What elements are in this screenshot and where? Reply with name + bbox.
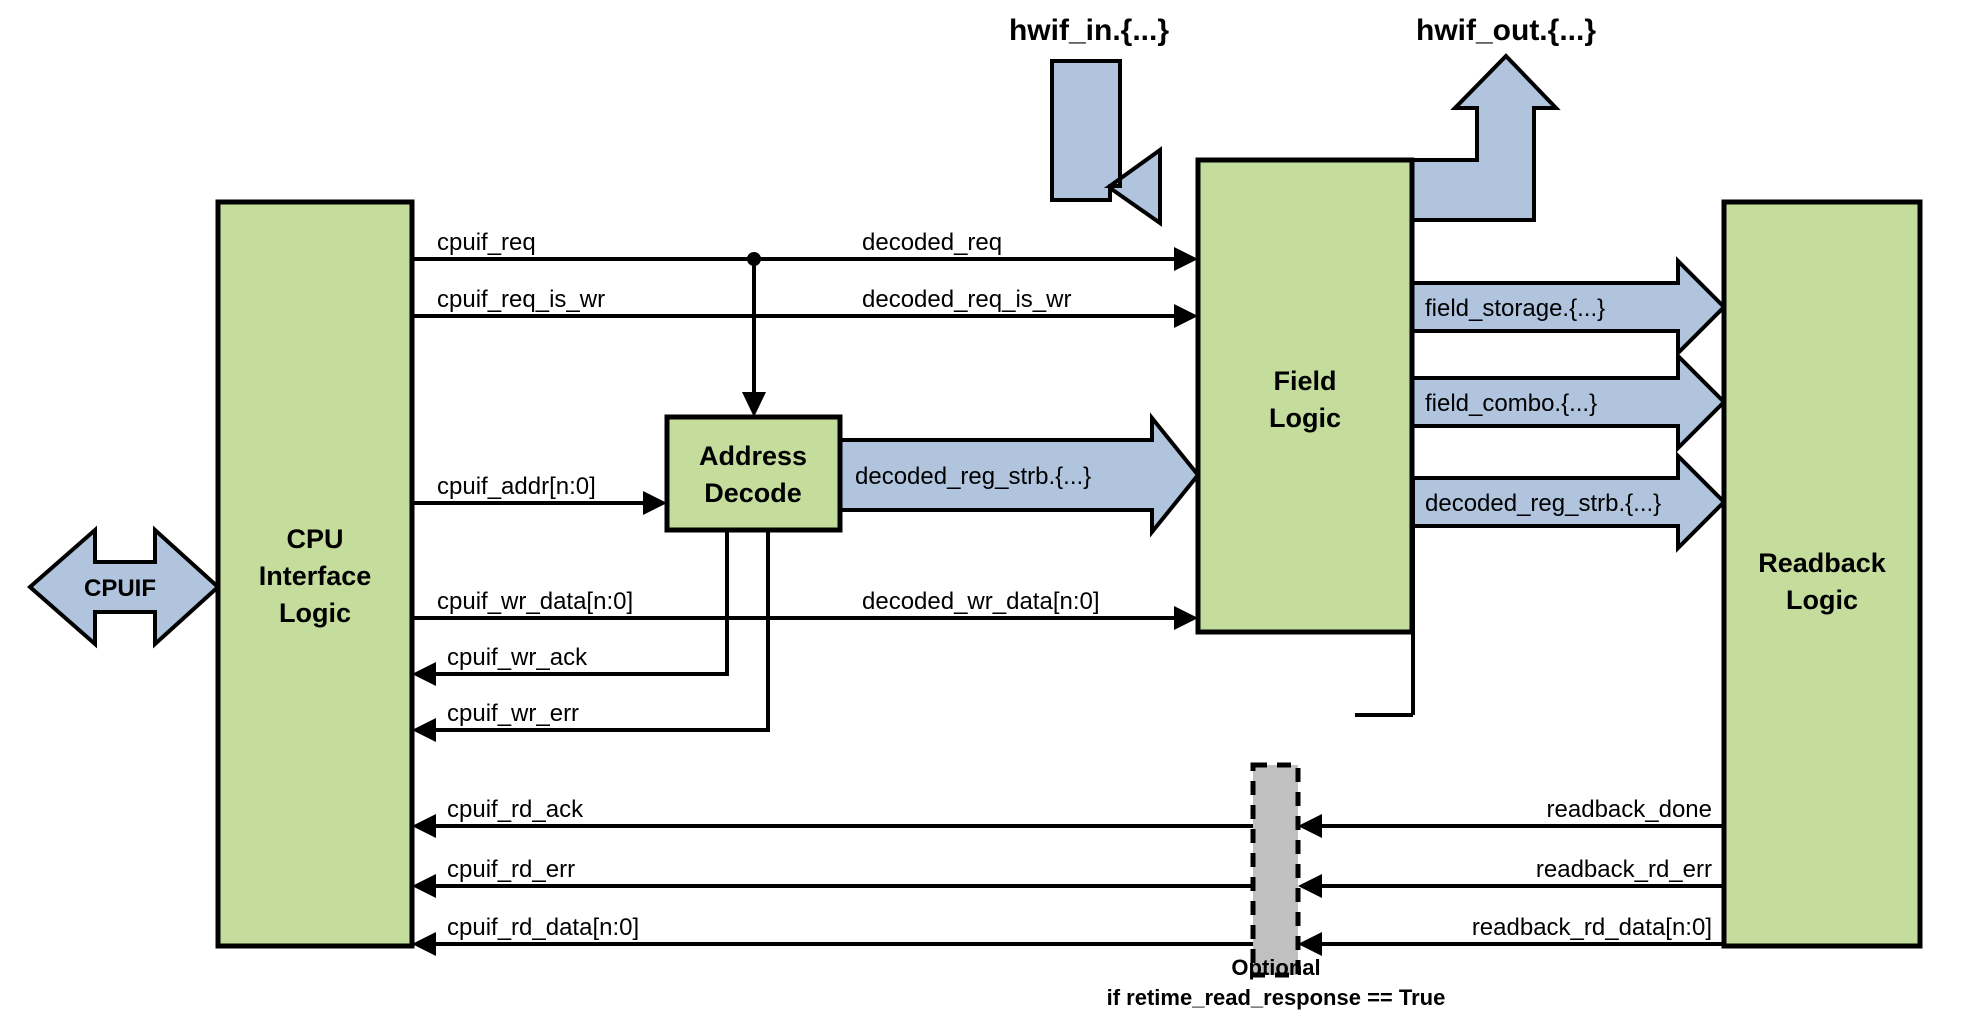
bus-arrow-hwif-in	[1052, 61, 1160, 223]
bus-arrow-hwif-out	[1412, 56, 1556, 220]
bus-label-hwif-in: hwif_in.{...}	[1009, 14, 1169, 47]
signal-label-readback-done: readback_done	[1547, 796, 1712, 823]
bus-label-cpuif: CPUIF	[84, 575, 156, 602]
signal-label-cpuif-wr-err: cpuif_wr_err	[447, 700, 579, 727]
junction-dot-cpuif-req	[747, 252, 761, 266]
cpu-interface-logic-label-3: Logic	[279, 598, 351, 628]
optional-label-1: Optional	[1231, 955, 1320, 980]
signal-label-cpuif-req-is-wr: cpuif_req_is_wr	[437, 286, 605, 313]
signal-label-readback-rd-err: readback_rd_err	[1536, 856, 1712, 883]
signal-label-cpuif-addr: cpuif_addr[n:0]	[437, 473, 596, 500]
arrowhead-decoded-req	[1174, 247, 1198, 271]
signal-label-cpuif-rd-data: cpuif_rd_data[n:0]	[447, 914, 639, 941]
arrowhead-req-into-decode	[742, 392, 766, 417]
arrowhead-cpuif-wr-err	[412, 718, 436, 742]
arrowhead-readback-rd-err	[1298, 874, 1322, 898]
optional-label-2: if retime_read_response == True	[1107, 985, 1446, 1010]
block-address-decode[interactable]	[667, 417, 840, 530]
arrowhead-cpuif-wr-ack	[412, 662, 436, 686]
arrowhead-decoded-req-is-wr	[1174, 304, 1198, 328]
readback-logic-label-2: Logic	[1786, 585, 1858, 615]
block-field-logic[interactable]	[1198, 160, 1412, 632]
arrowhead-readback-done	[1298, 814, 1322, 838]
diagram-canvas: CPU Interface Logic Address Decode Field…	[0, 0, 1972, 1022]
arrowhead-cpuif-rd-data	[412, 932, 436, 956]
arrowhead-cpuif-rd-ack	[412, 814, 436, 838]
bus-label-decoded-reg-strb-readback: decoded_reg_strb.{...}	[1425, 490, 1661, 517]
signal-label-decoded-req-is-wr: decoded_req_is_wr	[862, 286, 1071, 313]
bus-label-decoded-reg-strb-field: decoded_reg_strb.{...}	[855, 463, 1091, 490]
block-optional-retime[interactable]	[1253, 765, 1298, 975]
field-logic-label-1: Field	[1273, 366, 1336, 396]
arrowhead-cpuif-addr	[643, 491, 667, 515]
signal-label-cpuif-wr-data: cpuif_wr_data[n:0]	[437, 588, 633, 615]
block-diagram: CPU Interface Logic Address Decode Field…	[0, 0, 1972, 1022]
arrowhead-readback-rd-data	[1298, 932, 1322, 956]
cpu-interface-logic-label-2: Interface	[259, 561, 372, 591]
arrowhead-decoded-wr-data	[1174, 606, 1198, 630]
signal-label-cpuif-rd-ack: cpuif_rd_ack	[447, 796, 584, 823]
bus-label-field-combo: field_combo.{...}	[1425, 390, 1597, 417]
address-decode-label-1: Address	[699, 441, 807, 471]
arrowhead-cpuif-rd-err	[412, 874, 436, 898]
signal-label-cpuif-rd-err: cpuif_rd_err	[447, 856, 575, 883]
signal-label-readback-rd-data: readback_rd_data[n:0]	[1472, 914, 1712, 941]
field-logic-label-2: Logic	[1269, 403, 1341, 433]
signal-label-decoded-wr-data: decoded_wr_data[n:0]	[862, 588, 1100, 615]
cpu-interface-logic-label-1: CPU	[286, 524, 343, 554]
readback-logic-label-1: Readback	[1758, 548, 1887, 578]
signal-label-cpuif-req: cpuif_req	[437, 229, 536, 256]
bus-label-field-storage: field_storage.{...}	[1425, 295, 1605, 322]
signal-label-cpuif-wr-ack: cpuif_wr_ack	[447, 644, 588, 671]
address-decode-label-2: Decode	[704, 478, 802, 508]
signal-label-decoded-req: decoded_req	[862, 229, 1002, 256]
bus-label-hwif-out: hwif_out.{...}	[1416, 14, 1596, 47]
